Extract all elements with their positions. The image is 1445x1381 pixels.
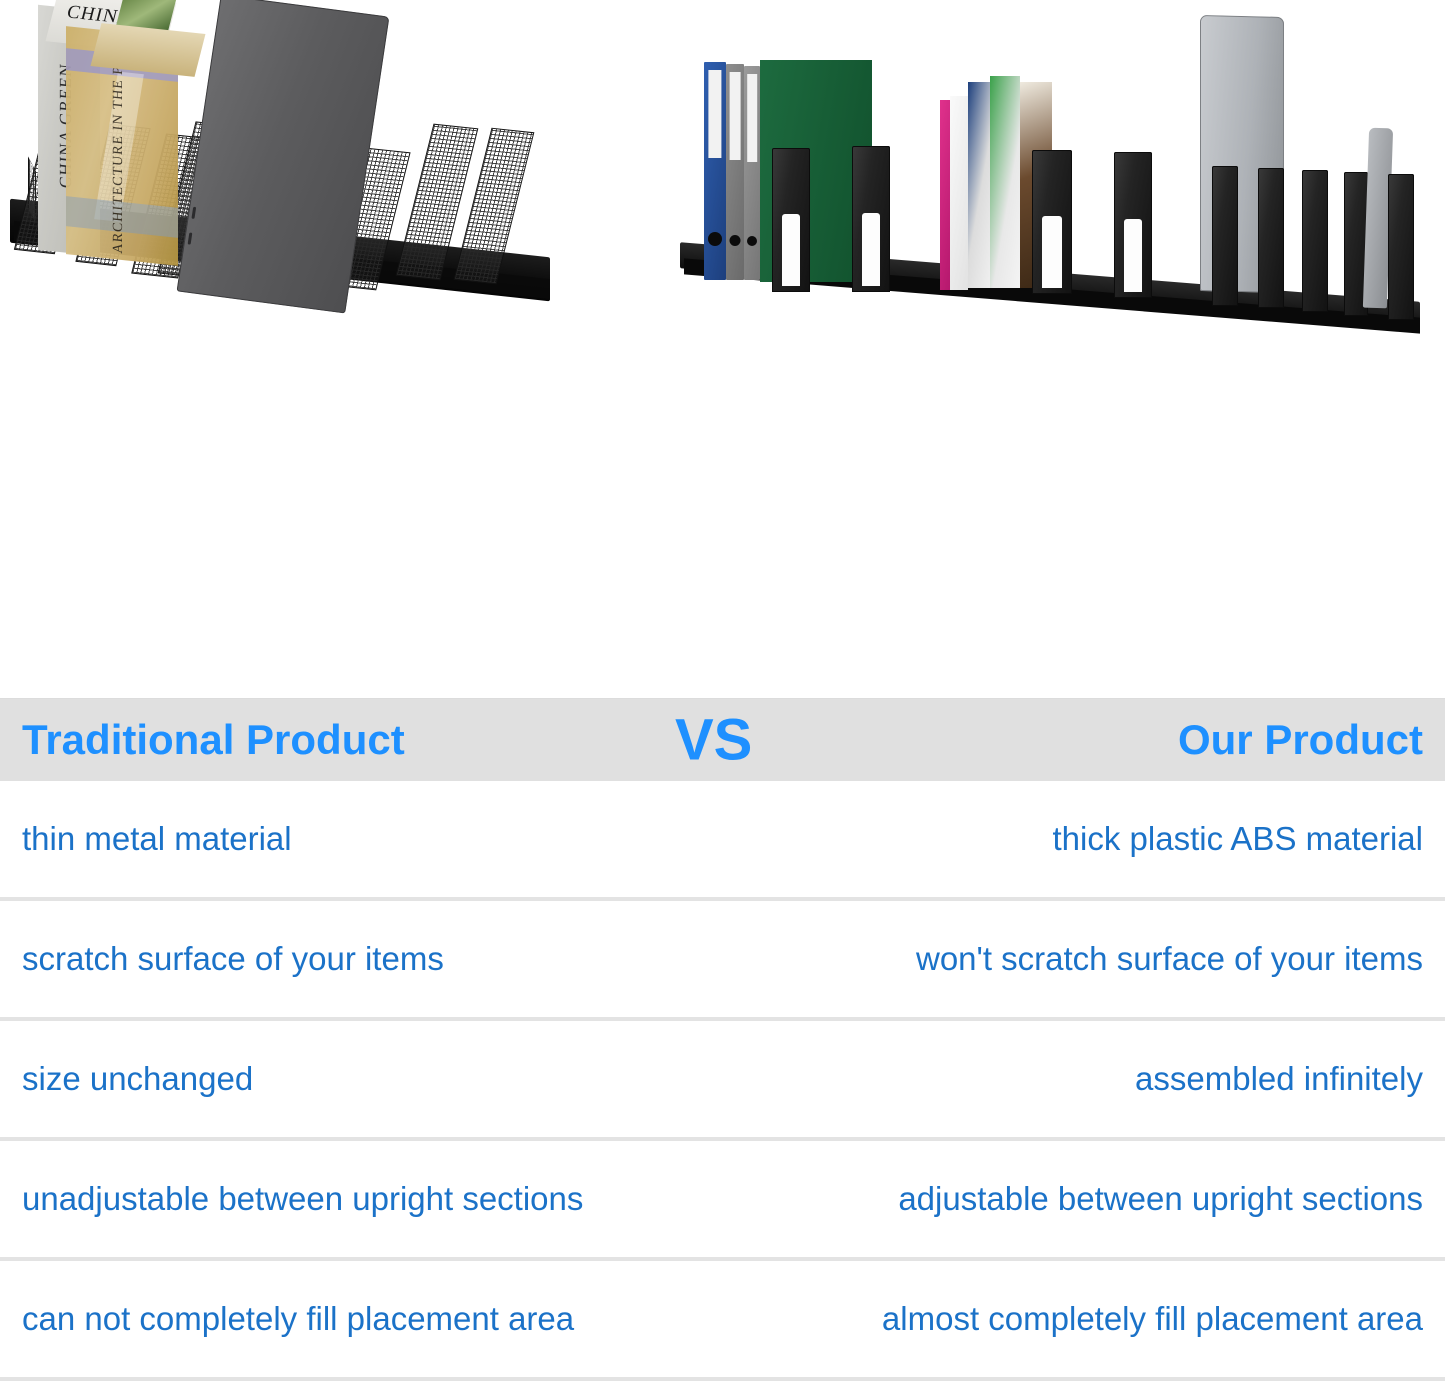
laptop-port xyxy=(188,232,193,244)
our-product-photo xyxy=(672,0,1445,378)
binder-blue xyxy=(704,62,726,280)
adjustable-divider xyxy=(1258,168,1284,308)
table-row: unadjustable between upright sections ad… xyxy=(0,1141,1445,1261)
adjustable-divider xyxy=(772,148,810,292)
table-row: thin metal material thick plastic ABS ma… xyxy=(0,781,1445,901)
cell-ours: adjustable between upright sections xyxy=(898,1180,1423,1218)
binder-grey xyxy=(726,64,744,280)
binder-label xyxy=(730,72,741,160)
header-traditional-product: Traditional Product xyxy=(22,716,405,764)
magazine-white xyxy=(950,96,968,290)
adjustable-divider xyxy=(1302,170,1328,312)
adjustable-divider xyxy=(1032,150,1072,294)
comparison-table-body: thin metal material thick plastic ABS ma… xyxy=(0,781,1445,1381)
cell-traditional: size unchanged xyxy=(22,1060,253,1098)
binder-ring xyxy=(747,236,757,246)
cell-ours: assembled infinitely xyxy=(1135,1060,1423,1098)
cell-traditional: unadjustable between upright sections xyxy=(22,1180,583,1218)
feature-callouts-row: Scratch Surface 0.2 in xyxy=(0,382,1445,682)
magazine-blue xyxy=(968,82,990,288)
divider-slot xyxy=(1042,216,1061,288)
traditional-product-photo: CHINA GREEN CHINA ARCHITECTURE IN THE PA… xyxy=(0,0,600,340)
laptop-port xyxy=(191,207,196,219)
binder-ring xyxy=(730,235,741,246)
header-our-product: Our Product xyxy=(1178,716,1423,764)
adjustable-divider xyxy=(1212,166,1238,306)
cell-traditional: scratch surface of your items xyxy=(22,940,444,978)
magazine-pink xyxy=(940,100,950,290)
cell-traditional: thin metal material xyxy=(22,820,292,858)
divider-slot xyxy=(862,213,880,286)
comparison-table: Traditional Product VS Our Product thin … xyxy=(0,698,1445,1381)
adjustable-divider xyxy=(1388,174,1414,320)
adjustable-divider xyxy=(852,146,890,292)
cell-traditional: can not completely fill placement area xyxy=(22,1300,574,1338)
adjustable-divider xyxy=(1114,152,1152,298)
cell-ours: won't scratch surface of your items xyxy=(916,940,1423,978)
divider-slot xyxy=(1124,219,1142,292)
divider-slot xyxy=(782,214,800,286)
table-row: scratch surface of your items won't scra… xyxy=(0,901,1445,1021)
table-row: can not completely fill placement area a… xyxy=(0,1261,1445,1381)
cell-ours: almost completely fill placement area xyxy=(882,1300,1423,1338)
magazine-green xyxy=(990,76,1020,288)
binder-grey xyxy=(744,66,760,280)
product-photos-row: CHINA GREEN CHINA ARCHITECTURE IN THE PA… xyxy=(0,0,1445,380)
binder-ring xyxy=(708,232,722,246)
table-row: size unchanged assembled infinitely xyxy=(0,1021,1445,1141)
cell-ours: thick plastic ABS material xyxy=(1053,820,1423,858)
header-vs-badge: VS xyxy=(675,707,752,774)
comparison-table-header: Traditional Product VS Our Product xyxy=(0,698,1445,781)
binder-label xyxy=(708,70,721,158)
binder-label xyxy=(747,74,757,162)
